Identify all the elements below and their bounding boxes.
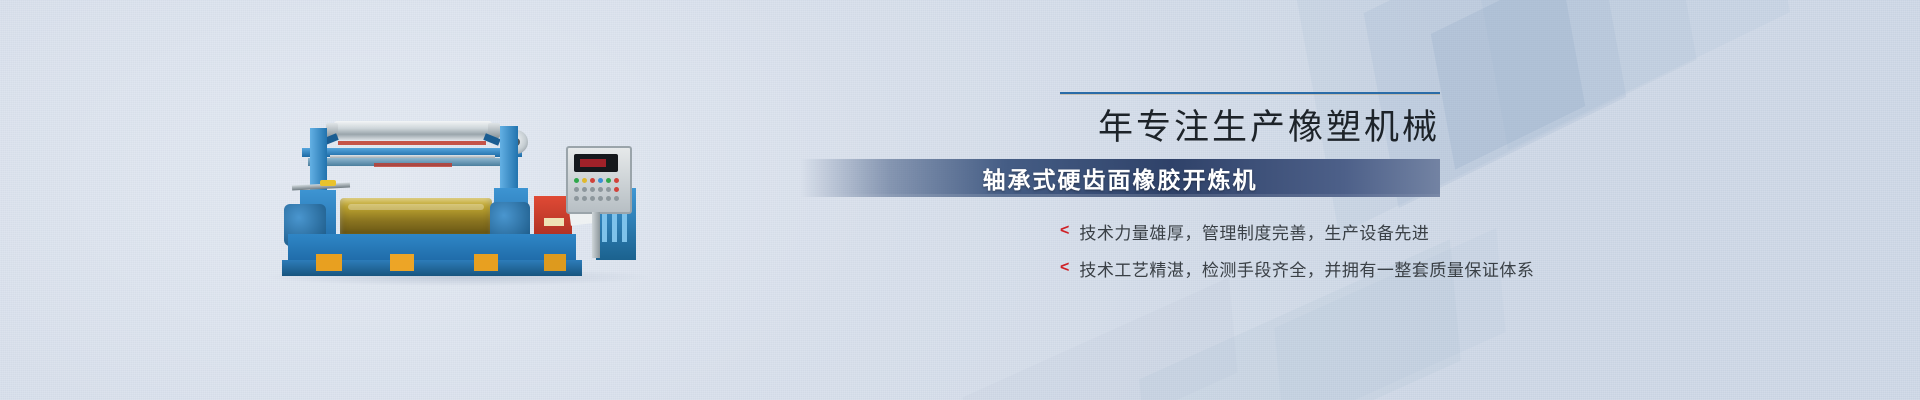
feature-list: < 技术力量雄厚，管理制度完善，生产设备先进 < 技术工艺精湛，检测手段齐全，并… (1060, 219, 1860, 281)
list-item-label: 技术工艺精湛，检测手段齐全，并拥有一整套质量保证体系 (1079, 256, 1534, 281)
rubber-mixing-mill-photo (278, 92, 638, 277)
page-title: 年专注生产橡塑机械 (884, 109, 1440, 148)
frame-column-right (500, 126, 518, 196)
control-panel-readout (580, 159, 606, 167)
headline-divider-rule (1060, 92, 1440, 95)
top-roller (334, 121, 492, 140)
banner-content: 年专注生产橡塑机械 轴承式硬齿面橡胶开炼机 < 技术力量雄厚，管理制度完善，生产… (1060, 92, 1860, 293)
base-foot (474, 254, 498, 271)
red-rod-lower (374, 163, 452, 167)
control-panel-button-row (574, 178, 619, 183)
chevron-left-icon: < (1060, 223, 1069, 239)
list-item: < 技术工艺精湛，检测手段齐全，并拥有一整套质量保证体系 (1060, 256, 1860, 281)
base-foot (544, 254, 566, 271)
base-foot (316, 254, 342, 271)
product-name: 轴承式硬齿面橡胶开炼机 (983, 161, 1258, 195)
red-motor-label (544, 218, 564, 226)
chevron-left-icon: < (1060, 260, 1069, 276)
control-panel-button-row (574, 196, 619, 201)
deco-parallelogram (963, 277, 1238, 400)
subtitle-banner-bar: 轴承式硬齿面橡胶开炼机 (800, 159, 1440, 197)
list-item-label: 技术力量雄厚，管理制度完善，生产设备先进 (1079, 219, 1429, 244)
control-panel-stand (592, 212, 600, 258)
promo-banner: 年专注生产橡塑机械 轴承式硬齿面橡胶开炼机 < 技术力量雄厚，管理制度完善，生产… (0, 0, 1920, 400)
roller-highlight (348, 204, 484, 210)
red-rod-upper (338, 141, 486, 145)
yellow-knob (320, 180, 336, 186)
control-panel-button-row (574, 187, 619, 192)
base-foot (390, 254, 414, 271)
list-item: < 技术力量雄厚，管理制度完善，生产设备先进 (1060, 219, 1860, 244)
